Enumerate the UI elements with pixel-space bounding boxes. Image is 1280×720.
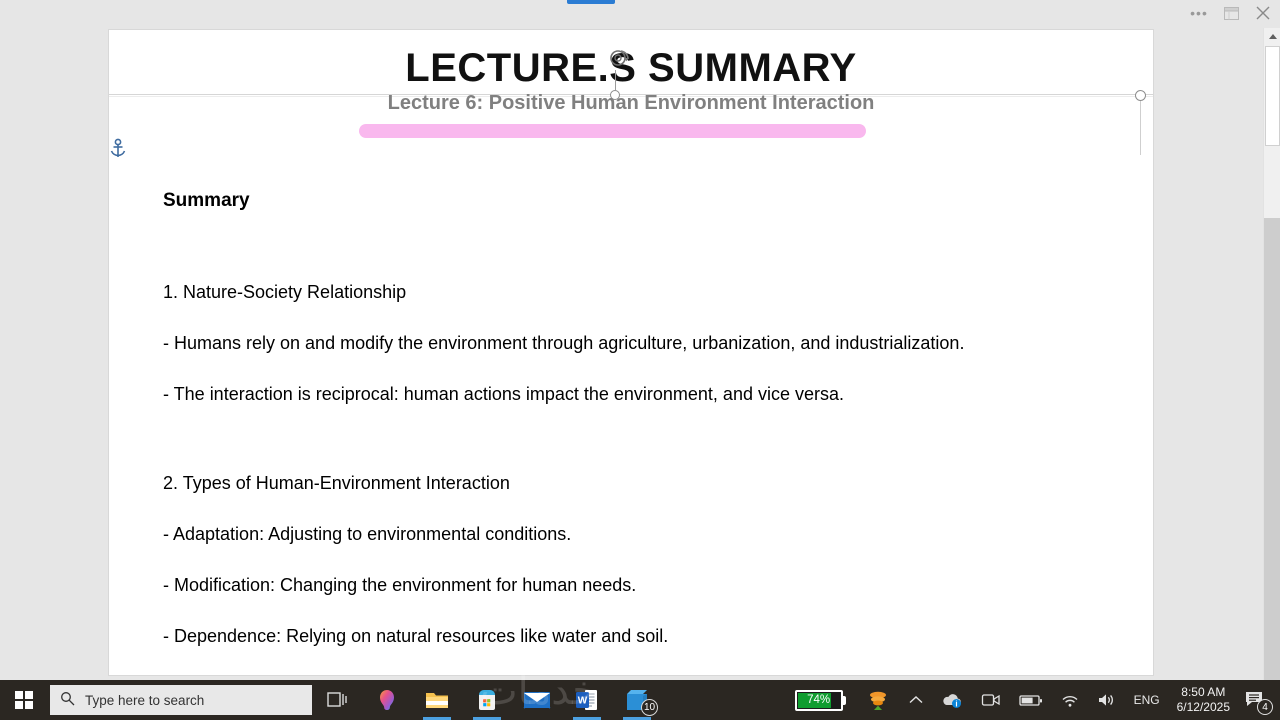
- vertical-scrollbar[interactable]: [1263, 28, 1280, 680]
- search-placeholder-text: Type here to search: [85, 693, 204, 708]
- tray-orange-app-icon[interactable]: [856, 680, 900, 720]
- close-icon[interactable]: [1252, 3, 1274, 23]
- store-app-badge: 10: [641, 699, 658, 716]
- start-button[interactable]: [0, 680, 48, 720]
- block-2-heading: 2. Types of Human-Environment Interactio…: [163, 473, 1143, 494]
- object-anchor-icon[interactable]: [108, 138, 128, 160]
- camera-icon[interactable]: [972, 680, 1010, 720]
- language-indicator[interactable]: ENG: [1125, 680, 1169, 720]
- taskbar-search-box[interactable]: Type here to search: [50, 685, 312, 715]
- task-view-icon[interactable]: [312, 680, 362, 720]
- word-icon[interactable]: W: [562, 680, 612, 720]
- windows-logo-icon: [15, 691, 33, 709]
- taskbar: Type here to search: [0, 680, 1280, 720]
- rotate-handle-stem: [615, 70, 616, 90]
- show-hidden-icons-chevron-icon[interactable]: [900, 680, 932, 720]
- block-1-line-1: - Humans rely on and modify the environm…: [163, 333, 1143, 354]
- file-explorer-icon[interactable]: [412, 680, 462, 720]
- mail-icon[interactable]: [512, 680, 562, 720]
- restore-window-icon[interactable]: [1220, 3, 1242, 23]
- block-2-line-3: - Dependence: Relying on natural resourc…: [163, 626, 1143, 647]
- battery-icon: 74%: [795, 690, 843, 711]
- wifi-icon[interactable]: [1052, 680, 1088, 720]
- document-subtitle: Lecture 6: Positive Human Environment In…: [109, 92, 1153, 115]
- block-1-line-2: - The interaction is reciprocal: human a…: [163, 384, 1143, 405]
- window-controls: •••: [1188, 2, 1274, 24]
- document-body[interactable]: Summary 1. Nature-Society Relationship -…: [163, 190, 1143, 647]
- notifications-button[interactable]: 4: [1238, 680, 1276, 720]
- scrollbar-track[interactable]: [1264, 218, 1280, 680]
- scroll-up-arrow-icon[interactable]: [1264, 28, 1280, 45]
- scrollbar-thumb[interactable]: [1265, 46, 1280, 146]
- block-1-heading: 1. Nature-Society Relationship: [163, 282, 1143, 303]
- volume-icon[interactable]: [1088, 680, 1125, 720]
- document-page[interactable]: LECTURE.S SUMMARY Lecture 6: Positive Hu…: [109, 30, 1153, 675]
- block-2-line-1: - Adaptation: Adjusting to environmental…: [163, 524, 1143, 545]
- system-tray: 74% i: [785, 680, 1280, 720]
- screen: ••• LECTURE.S SUMMARY Lec: [0, 0, 1280, 720]
- svg-text:W: W: [578, 696, 588, 707]
- notification-count-badge: 4: [1257, 699, 1273, 715]
- copilot-icon[interactable]: [362, 680, 412, 720]
- rotate-handle-icon[interactable]: [607, 46, 633, 72]
- battery-cap: [843, 696, 846, 705]
- pink-highlight-bar[interactable]: [359, 124, 866, 138]
- search-icon: [60, 691, 75, 709]
- clock-time: 8:50 AM: [1177, 685, 1230, 700]
- body-section-heading: Summary: [163, 190, 1143, 212]
- taskbar-app-icons: W 10: [312, 680, 662, 720]
- clock-date: 6/12/2025: [1177, 700, 1230, 715]
- clock[interactable]: 8:50 AM 6/12/2025: [1169, 685, 1238, 715]
- tray-battery-icon[interactable]: [1010, 680, 1052, 720]
- more-options-label: •••: [1190, 6, 1208, 20]
- onedrive-icon[interactable]: i: [932, 680, 972, 720]
- microsoft-store-icon[interactable]: [462, 680, 512, 720]
- more-options-icon[interactable]: •••: [1188, 3, 1210, 23]
- window-top-bar: •••: [0, 0, 1280, 28]
- battery-percent-indicator[interactable]: 74%: [795, 690, 846, 711]
- battery-percent-text: 74%: [797, 694, 841, 706]
- svg-text:i: i: [955, 700, 957, 709]
- block-2-line-2: - Modification: Changing the environment…: [163, 575, 1143, 596]
- active-tab-indicator[interactable]: [567, 0, 615, 4]
- store-app-icon[interactable]: 10: [612, 680, 662, 720]
